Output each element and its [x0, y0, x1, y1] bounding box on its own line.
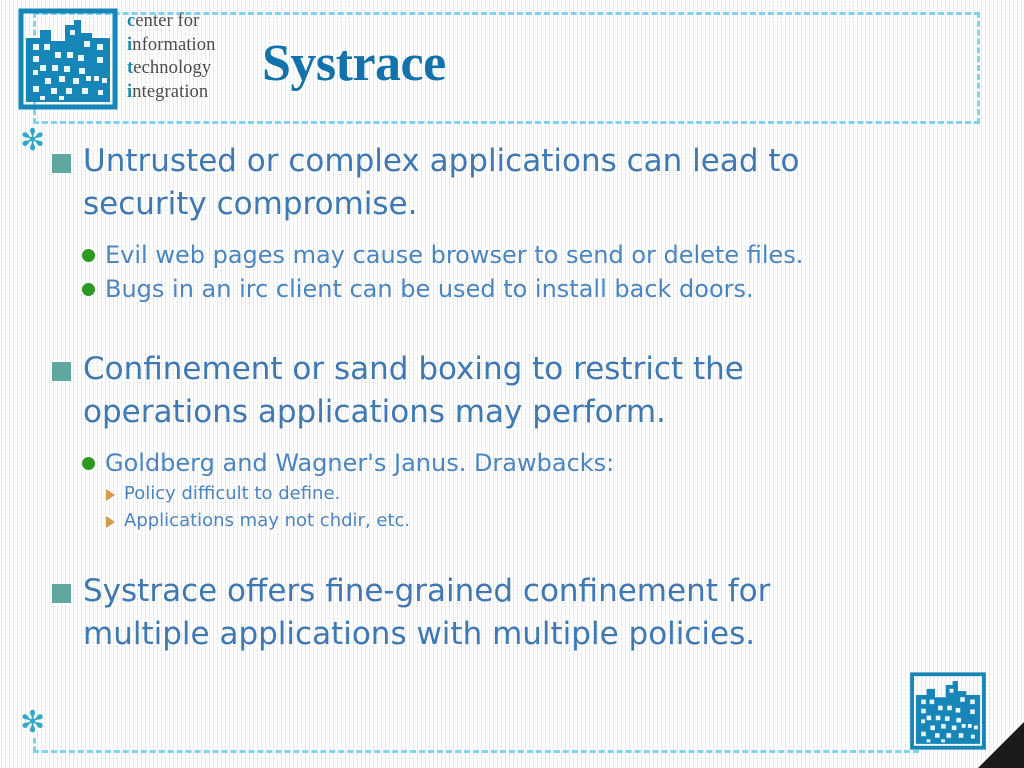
slide-title: Systrace [262, 36, 446, 92]
footer-dashed-rule [33, 750, 919, 753]
bullet-text: Systrace offers fine-grained confinement… [83, 570, 903, 656]
bullet-level3: Applications may not chdir, etc. [106, 507, 1024, 534]
presentation-slide: center for information technology integr… [0, 0, 1024, 768]
star-decoration-bottom: ✻ [20, 708, 45, 738]
brand-line-3-rest: ntegration [132, 82, 208, 102]
brand-line-1-rest: nformation [132, 35, 215, 55]
triangle-bullet-icon [106, 516, 115, 528]
dot-bullet-icon [82, 457, 95, 470]
spacer [0, 534, 1024, 570]
brand-line-3: integration [127, 81, 247, 105]
brand-wordmark: center for information technology integr… [127, 10, 247, 104]
triangle-bullet-icon [106, 489, 115, 501]
dot-bullet-icon [82, 283, 95, 296]
corner-triangle-decoration [978, 722, 1024, 768]
bullet-level1: Confinement or sand boxing to restrict t… [52, 348, 1024, 434]
spacer [0, 226, 1024, 238]
bullet-level1: Systrace offers fine-grained confinement… [52, 570, 1024, 656]
citi-skyline-logo-top [18, 8, 118, 110]
brand-line-2: technology [127, 57, 247, 81]
bullet-text: Evil web pages may cause browser to send… [105, 238, 803, 272]
citi-skyline-logo-bottom [908, 672, 988, 750]
brand-line-0-rest: enter for [135, 11, 199, 31]
bullet-level2: Bugs in an irc client can be used to ins… [82, 272, 1024, 306]
brand-line-1: information [127, 34, 247, 58]
bullet-text: Goldberg and Wagner's Janus. Drawbacks: [105, 446, 614, 480]
brand-line-0: center for [127, 10, 247, 34]
spacer [0, 306, 1024, 348]
spacer [0, 434, 1024, 446]
square-bullet-icon [52, 584, 71, 603]
square-bullet-icon [52, 362, 71, 381]
bullet-level3: Policy difficult to define. [106, 480, 1024, 507]
bullet-level1: Untrusted or complex applications can le… [52, 140, 1024, 226]
bullet-level2: Evil web pages may cause browser to send… [82, 238, 1024, 272]
slide-body: Untrusted or complex applications can le… [0, 140, 1024, 656]
bullet-text: Policy difficult to define. [124, 480, 340, 507]
bullet-text: Confinement or sand boxing to restrict t… [83, 348, 903, 434]
bullet-text: Applications may not chdir, etc. [124, 507, 410, 534]
slide-header: center for information technology integr… [0, 0, 1024, 132]
bullet-level2: Goldberg and Wagner's Janus. Drawbacks: [82, 446, 1024, 480]
bullet-text: Untrusted or complex applications can le… [83, 140, 903, 226]
square-bullet-icon [52, 154, 71, 173]
brand-line-2-rest: echnology [133, 58, 211, 78]
dot-bullet-icon [82, 249, 95, 262]
bullet-text: Bugs in an irc client can be used to ins… [105, 272, 754, 306]
